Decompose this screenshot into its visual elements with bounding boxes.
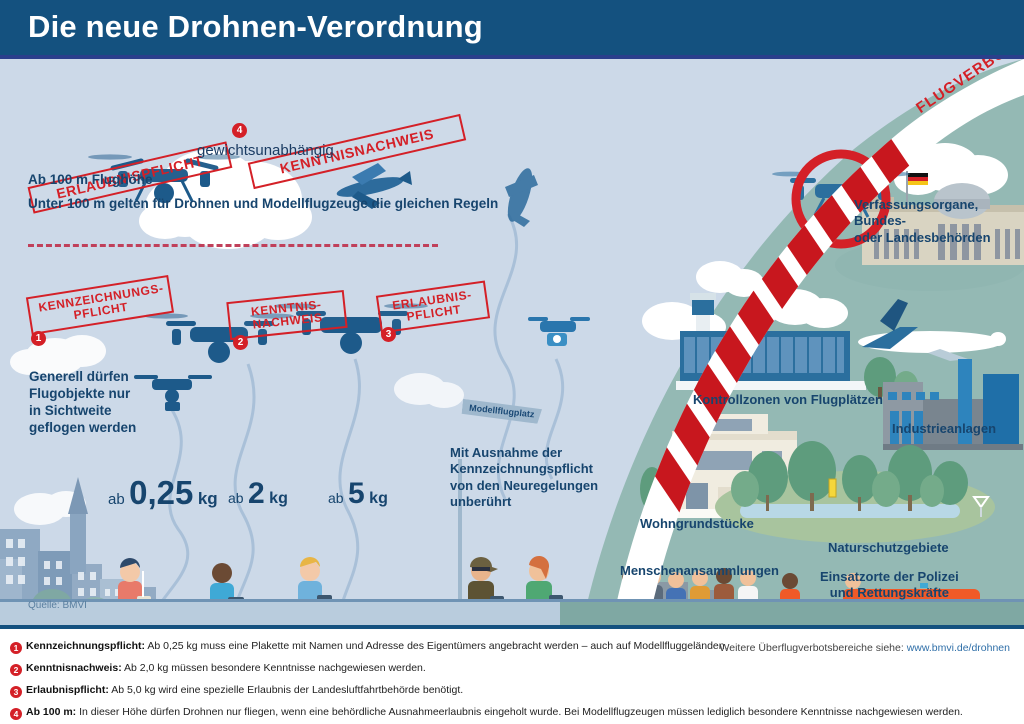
weight-unit: kg (369, 490, 388, 507)
note-line: Kennzeichnungspflicht (450, 461, 598, 477)
altitude-dashed-line (28, 244, 438, 247)
weight-label-5kg: ab 5 kg (328, 477, 388, 511)
label-line: oder Landesbehörden (854, 230, 1024, 246)
drone-small-left (134, 375, 212, 411)
weight-prefix: ab (228, 490, 244, 506)
footnote-number: 1 (10, 642, 22, 654)
footnote-text: Ab 2,0 kg müssen besondere Kenntnisse na… (124, 662, 426, 674)
stamp-number-2: 2 (233, 335, 248, 350)
stamp-number-1: 1 (31, 331, 46, 346)
weight-value: 0,25 (129, 474, 193, 511)
weight-value: 5 (348, 477, 365, 510)
header-bar: Die neue Drohnen-Verordnung (0, 0, 1024, 55)
label-line: Kontrollzonen von Flugplätzen (693, 392, 883, 408)
weight-label-2kg: ab 2 kg (228, 477, 288, 511)
label-line: Industrieanlagen (892, 421, 996, 437)
footnote-4: 4Ab 100 m: In dieser Höhe dürfen Drohnen… (10, 706, 963, 720)
label-line: Menschenansammlungen (620, 563, 779, 579)
cloud-center (394, 373, 464, 408)
infographic-page: Die neue Drohnen-Verordnung (0, 0, 1024, 724)
footnote-number: 4 (10, 708, 22, 720)
label-naturschutzgebiete: Naturschutzgebiete (828, 540, 949, 556)
weight-prefix: ab (328, 490, 344, 506)
footer-link-block: Weitere Überflugverbotsbereiche siehe: w… (720, 642, 1010, 654)
weight-prefix: ab (108, 491, 125, 508)
note-line: geflogen werden (29, 420, 136, 437)
page-title: Die neue Drohnen-Verordnung (28, 9, 483, 45)
illustration-canvas: ERLAUBNISPFLICHT KENNTNISNACHWEIS 4 gewi… (0, 59, 1024, 625)
footnote-1: 1Kennzeichnungspflicht: Ab 0,25 kg muss … (10, 640, 728, 654)
footer-link-prefix: Weitere Überflugverbotsbereiche siehe: (720, 642, 907, 654)
footnote-number: 3 (10, 686, 22, 698)
note-line: von den Neuregelungen (450, 478, 598, 494)
label-line: Verfassungsorgane, Bundes- (854, 197, 1024, 230)
label-einsatzorte: Einsatzorte der Polizei und Rettungskräf… (820, 569, 959, 602)
nature-reserve (715, 441, 995, 543)
stamp-number-4: 4 (232, 123, 247, 138)
footnote-title: Ab 100 m: (26, 706, 76, 718)
stamp-number-3: 3 (381, 327, 396, 342)
source-attribution: Quelle: BMVI (28, 600, 87, 611)
altitude-label: Ab 100 m Flughöhe (28, 172, 153, 189)
footnote-2: 2Kenntnisnachweis: Ab 2,0 kg müssen beso… (10, 662, 426, 676)
label-line: Naturschutzgebiete (828, 540, 949, 556)
drone-mid-3-small (528, 317, 590, 346)
footnote-text: Ab 0,25 kg muss eine Plakette mit Namen … (147, 640, 727, 652)
weight-label-0-25kg: ab 0,25 kg (108, 474, 218, 512)
label-line: Wohngrundstücke (640, 516, 754, 532)
label-line: und Rettungskräfte (820, 585, 959, 601)
weight-unit: kg (269, 490, 288, 507)
model-field-note: Mit Ausnahme der Kennzeichnungspflicht v… (450, 445, 598, 510)
footnote-title: Kennzeichnungspflicht: (26, 640, 145, 652)
note-line: unberührt (450, 494, 598, 510)
footnote-text: Ab 5,0 kg wird eine spezielle Erlaubnis … (111, 684, 463, 696)
label-wohngrundstuecke: Wohngrundstücke (640, 516, 754, 532)
weight-unit: kg (198, 489, 218, 508)
note-line: Generell dürfen (29, 369, 136, 386)
footnote-text: In dieser Höhe dürfen Drohnen nur fliege… (79, 706, 963, 718)
footnote-3: 3Erlaubnispflicht: Ab 5,0 kg wird eine s… (10, 684, 463, 698)
label-menschenansammlungen: Menschenansammlungen (620, 563, 779, 579)
weight-value: 2 (248, 477, 265, 510)
footnotes-section: 1Kennzeichnungspflicht: Ab 0,25 kg muss … (0, 629, 1024, 724)
note-line: Mit Ausnahme der (450, 445, 598, 461)
footnote-title: Kenntnisnachweis: (26, 662, 122, 674)
footnote-title: Erlaubnispflicht: (26, 684, 109, 696)
label-verfassungsorgane: Verfassungsorgane, Bundes- oder Landesbe… (854, 197, 1024, 246)
label-kontrollzonen: Kontrollzonen von Flugplätzen (693, 392, 883, 408)
note-line: Flugobjekte nur (29, 386, 136, 403)
weight-independent-note: gewichtsunabhängig (197, 142, 334, 161)
note-line: in Sichtweite (29, 403, 136, 420)
bmvi-drohnen-link[interactable]: www.bmvi.de/drohnen (907, 642, 1010, 654)
label-industrieanlagen: Industrieanlagen (892, 421, 996, 437)
below-100m-label: Unter 100 m gelten für Drohnen und Model… (28, 196, 498, 213)
label-line: Einsatzorte der Polizei (820, 569, 959, 585)
footnote-number: 2 (10, 664, 22, 676)
plane-center (503, 166, 538, 227)
line-of-sight-note: Generell dürfen Flugobjekte nur in Sicht… (29, 369, 136, 437)
